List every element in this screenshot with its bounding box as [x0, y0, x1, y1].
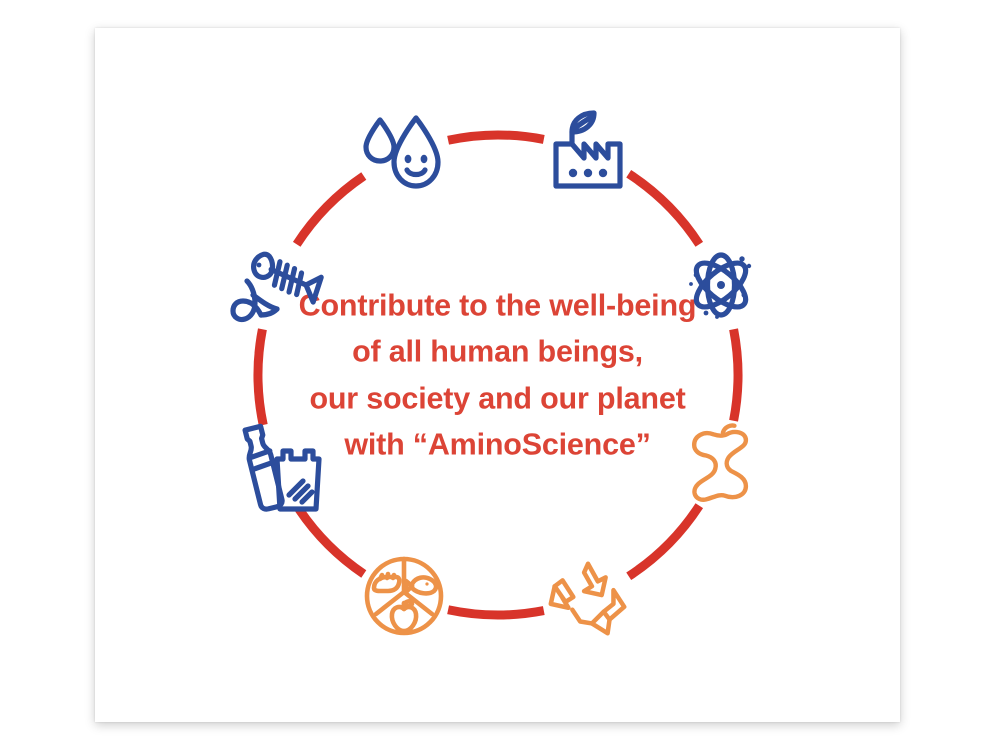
icon-slot-food-circle	[352, 544, 456, 648]
plastic-bottle-bag-icon	[225, 417, 329, 521]
icon-slot-water-drop	[352, 102, 456, 206]
ring-arc-8	[448, 135, 544, 140]
infographic-card: Contribute to the well-being of all huma…	[95, 28, 900, 722]
recycle-icon	[541, 551, 635, 645]
apple-core-icon	[675, 419, 767, 511]
icon-slot-fish-bone	[223, 233, 327, 337]
icon-slot-bottle-bag	[225, 417, 329, 521]
water-drop-smile-icon	[356, 106, 452, 202]
atom-icon	[673, 237, 769, 333]
icon-slot-recycle	[536, 546, 640, 650]
amino-science-circle-diagram: Contribute to the well-being of all huma…	[95, 28, 900, 722]
ring-arc-4	[448, 610, 544, 615]
fish-bone-icon	[223, 233, 327, 337]
food-groups-circle-icon	[354, 546, 454, 646]
icon-slot-apple-core	[669, 413, 773, 517]
icon-slot-atom	[669, 233, 773, 337]
icon-slot-factory-leaf	[536, 100, 640, 204]
screenshot-stage: Contribute to the well-being of all huma…	[0, 0, 1000, 750]
factory-leaf-icon	[540, 104, 636, 200]
